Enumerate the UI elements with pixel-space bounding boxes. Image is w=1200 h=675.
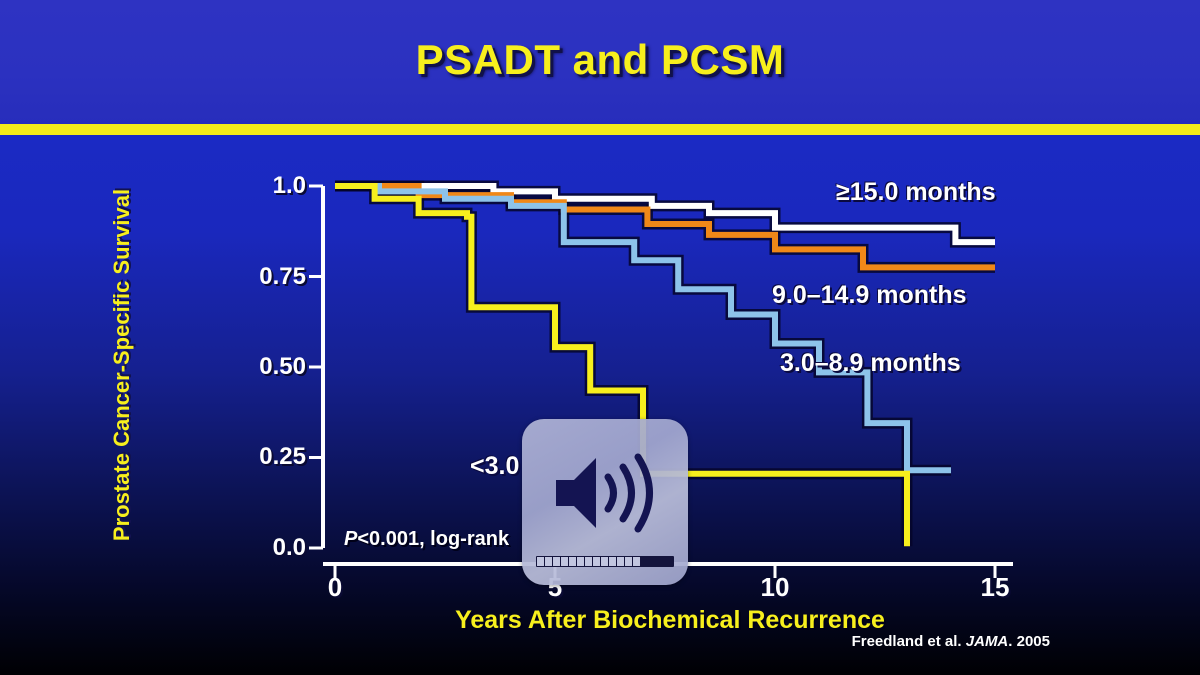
p-italic: P (344, 528, 357, 550)
p-rest: <0.001, log-rank (357, 528, 509, 550)
volume-segment (593, 557, 600, 566)
volume-segment (545, 557, 552, 566)
volume-segment (585, 557, 592, 566)
log-rank-annotation: P<0.001, log-rank (344, 528, 509, 551)
slide-root: PSADT and PCSM Prostate Cancer-Specific … (0, 0, 1200, 675)
curve-label-3-8: 3.0–8.9 months (780, 349, 961, 378)
volume-segment (633, 557, 640, 566)
volume-osd-overlay (522, 419, 688, 585)
volume-segment (569, 557, 576, 566)
curve-label-9-14: 9.0–14.9 months (772, 281, 967, 310)
curve-label-lt3: <3.0 (470, 452, 519, 481)
volume-speaker-icon (548, 447, 664, 539)
volume-segment (657, 557, 664, 566)
citation-author: Freedland et al. (852, 633, 966, 650)
volume-segment (649, 557, 656, 566)
volume-segment (625, 557, 632, 566)
volume-segment (537, 557, 544, 566)
citation-journal: JAMA (966, 633, 1009, 650)
source-citation: Freedland et al. JAMA. 2005 (660, 633, 1050, 650)
volume-segment (553, 557, 560, 566)
volume-segment (577, 557, 584, 566)
volume-segment (601, 557, 608, 566)
volume-segment (641, 557, 648, 566)
volume-segment (609, 557, 616, 566)
curve-label-ge15: ≥15.0 months (836, 178, 996, 207)
volume-segment (561, 557, 568, 566)
volume-level-bar[interactable] (536, 556, 674, 567)
citation-year: . 2005 (1008, 633, 1050, 650)
volume-segment (617, 557, 624, 566)
